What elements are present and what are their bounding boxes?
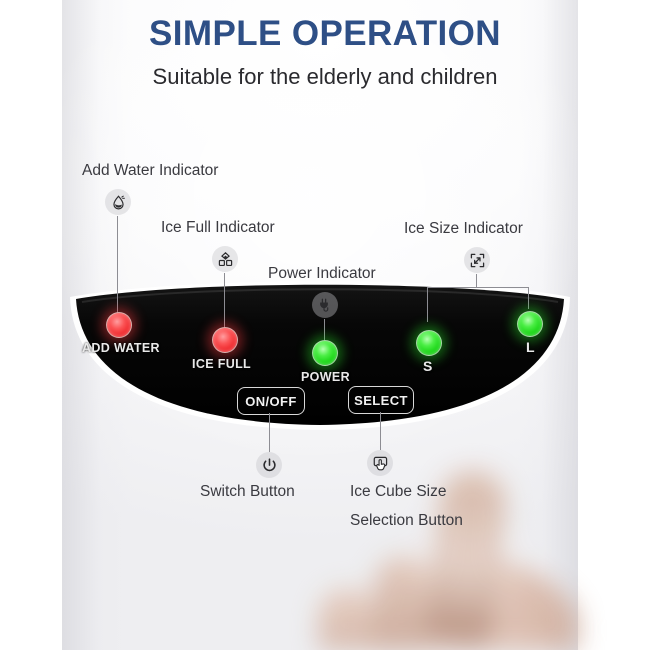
leader-line-size-select-button	[380, 412, 381, 450]
leader-line-ice-size-large	[528, 287, 529, 309]
callout-label-ice-full: Ice Full Indicator	[161, 217, 275, 238]
on-off-button[interactable]: ON/OFF	[237, 387, 305, 415]
leader-line-add-water	[117, 216, 118, 324]
led-ice-size-small	[416, 330, 442, 356]
infographic-canvas: SIMPLE OPERATION Suitable for the elderl…	[0, 0, 650, 650]
leader-line-ice-size-stem	[476, 274, 477, 287]
select-button[interactable]: SELECT	[348, 386, 414, 414]
callout-label-power: Power Indicator	[268, 263, 376, 284]
water-drop-icon	[105, 189, 131, 215]
panel-label-power: POWER	[301, 370, 350, 384]
callout-label-ice-size: Ice Size Indicator	[404, 218, 523, 239]
led-power	[312, 340, 338, 366]
leader-line-ice-size-small	[427, 287, 428, 322]
led-ice-full	[212, 327, 238, 353]
leader-line-switch-button	[269, 413, 270, 452]
page-subtitle: Suitable for the elderly and children	[0, 63, 650, 91]
page-title: SIMPLE OPERATION	[0, 13, 650, 55]
led-add-water	[106, 312, 132, 338]
panel-label-size-large: L	[526, 339, 535, 355]
power-symbol-icon	[256, 452, 282, 478]
ice-cubes-icon	[212, 246, 238, 272]
panel-label-ice-full: ICE FULL	[192, 357, 251, 371]
callout-label-add-water: Add Water Indicator	[82, 160, 218, 181]
resize-arrow-icon	[464, 247, 490, 273]
panel-label-add-water: ADD WATER	[82, 341, 160, 355]
header: SIMPLE OPERATION Suitable for the elderl…	[0, 0, 650, 108]
callout-label-size-select-line1: Ice Cube Size	[350, 481, 447, 502]
select-button-label: SELECT	[354, 393, 408, 408]
callout-label-size-select-line2: Selection Button	[350, 510, 463, 531]
power-plug-icon	[312, 292, 338, 318]
on-off-button-label: ON/OFF	[245, 394, 297, 409]
led-ice-size-large	[517, 311, 543, 337]
callout-label-switch-button: Switch Button	[200, 481, 295, 502]
touch-tap-icon	[367, 450, 393, 476]
leader-line-ice-size-bar	[427, 287, 529, 288]
panel-label-size-small: S	[423, 358, 433, 374]
